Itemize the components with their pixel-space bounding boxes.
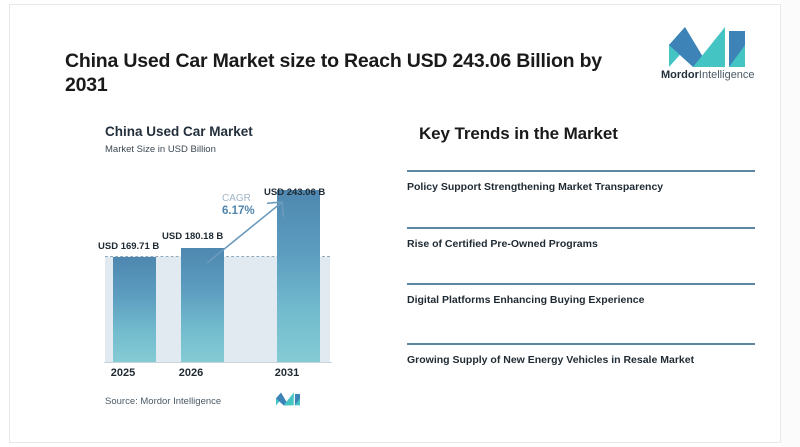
brand-name-light: Intelligence [699,69,755,81]
trend-divider [407,170,755,172]
page-right-edge [781,0,800,447]
chart-subtitle: Market Size in USD Billion [105,144,216,155]
brand-name-bold: Mordor [661,69,699,81]
mordor-m-logo-small-icon [276,391,300,407]
infographic-page: China Used Car Market size to Reach USD … [0,0,800,447]
brand-wordmark: MordorIntelligence [661,69,753,81]
trend-item-4[interactable]: Growing Supply of New Energy Vehicles in… [407,343,755,366]
chart-title: China Used Car Market [105,124,253,139]
trend-item-3[interactable]: Digital Platforms Enhancing Buying Exper… [407,283,755,306]
bar-2025 [113,257,156,362]
content-card: China Used Car Market size to Reach USD … [9,4,781,443]
trend-item-label: Rise of Certified Pre-Owned Programs [407,238,755,250]
x-axis-label-2025: 2025 [93,367,153,379]
cagr-label: CAGR [222,193,251,204]
trends-title: Key Trends in the Market [419,124,618,144]
trend-item-label: Policy Support Strengthening Market Tran… [407,181,755,193]
trend-item-label: Digital Platforms Enhancing Buying Exper… [407,294,755,306]
trend-item-1[interactable]: Policy Support Strengthening Market Tran… [407,170,755,193]
trend-item-label: Growing Supply of New Energy Vehicles in… [407,354,755,366]
chart-source: Source: Mordor Intelligence [105,396,221,407]
trend-item-2[interactable]: Rise of Certified Pre-Owned Programs [407,227,755,250]
trend-divider [407,227,755,229]
trend-divider [407,283,755,285]
mordor-m-logo-icon [669,27,745,67]
trend-divider [407,343,755,345]
cagr-value: 6.17% [222,205,255,217]
x-axis-label-2031: 2031 [257,367,317,379]
x-axis-label-2026: 2026 [161,367,221,379]
x-axis-line [104,362,332,363]
brand-logo: MordorIntelligence [661,27,753,89]
page-title: China Used Car Market size to Reach USD … [65,49,645,98]
bar-value-label-2025: USD 169.71 B [98,241,159,252]
